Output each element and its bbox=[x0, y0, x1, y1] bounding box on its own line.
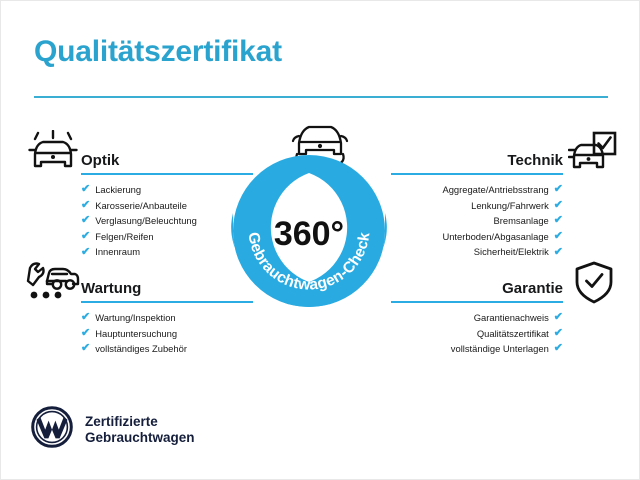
vw-logo-text: Zertifizierte Gebrauchtwagen bbox=[85, 414, 195, 446]
title-divider bbox=[34, 96, 608, 98]
car-wrench-icon bbox=[25, 259, 81, 310]
list-item-label: Sicherheit/Elektrik bbox=[474, 244, 549, 260]
check-icon: ✔ bbox=[554, 312, 563, 323]
section-header: Technik bbox=[391, 141, 563, 175]
section-divider bbox=[81, 301, 253, 303]
check-icon: ✔ bbox=[81, 328, 90, 339]
section-divider bbox=[81, 173, 253, 175]
section-title-garantie: Garantie bbox=[502, 280, 563, 297]
check-icon: ✔ bbox=[81, 312, 90, 323]
section-divider bbox=[391, 301, 563, 303]
list-item: ✔vollständiges Zubehör bbox=[81, 341, 253, 357]
checklist-wartung: ✔Wartung/Inspektion ✔Hauptuntersuchung ✔… bbox=[81, 310, 253, 357]
badge-center-label: 360° bbox=[274, 215, 344, 253]
section-title-optik: Optik bbox=[81, 152, 119, 169]
list-item-label: Verglasung/Beleuchtung bbox=[95, 213, 197, 229]
list-item: Sicherheit/Elektrik✔ bbox=[391, 244, 563, 260]
list-item-label: Karosserie/Anbauteile bbox=[95, 198, 187, 214]
car-shine-icon bbox=[27, 130, 79, 181]
list-item: ✔Wartung/Inspektion bbox=[81, 310, 253, 326]
list-item: vollständige Unterlagen✔ bbox=[391, 341, 563, 357]
check-icon: ✔ bbox=[81, 215, 90, 226]
list-item-label: Hauptuntersuchung bbox=[95, 326, 177, 342]
car-checkbox-icon bbox=[568, 130, 618, 181]
list-item-label: Innenraum bbox=[95, 244, 140, 260]
page-title: Qualitätszertifikat bbox=[34, 35, 282, 69]
vw-logo-icon bbox=[31, 406, 73, 453]
list-item: ✔Felgen/Reifen bbox=[81, 229, 253, 245]
check-icon: ✔ bbox=[554, 215, 563, 226]
list-item-label: Felgen/Reifen bbox=[95, 229, 153, 245]
section-technik: Technik Aggregate/Antriebsstrang✔ Lenkun… bbox=[391, 141, 563, 260]
list-item-label: vollständiges Zubehör bbox=[95, 341, 187, 357]
section-header: Optik bbox=[81, 141, 253, 175]
list-item: ✔Lackierung bbox=[81, 182, 253, 198]
section-header: Garantie bbox=[391, 269, 563, 303]
check-icon: ✔ bbox=[554, 231, 563, 242]
check-icon: ✔ bbox=[81, 247, 90, 258]
section-title-wartung: Wartung bbox=[81, 280, 141, 297]
list-item: Lenkung/Fahrwerk✔ bbox=[391, 198, 563, 214]
list-item: Unterboden/Abgasanlage✔ bbox=[391, 229, 563, 245]
list-item-label: Unterboden/Abgasanlage bbox=[442, 229, 548, 245]
check-icon: ✔ bbox=[81, 231, 90, 242]
check-icon: ✔ bbox=[554, 200, 563, 211]
section-header: Wartung bbox=[81, 269, 253, 303]
section-garantie: Garantie Garantienachweis✔ Qualitätszert… bbox=[391, 269, 563, 357]
shield-check-icon bbox=[573, 260, 615, 311]
list-item: ✔Hauptuntersuchung bbox=[81, 326, 253, 342]
check-icon: ✔ bbox=[81, 184, 90, 195]
list-item: ✔Verglasung/Beleuchtung bbox=[81, 213, 253, 229]
checklist-garantie: Garantienachweis✔ Qualitätszertifikat✔ v… bbox=[391, 310, 563, 357]
check-icon: ✔ bbox=[554, 247, 563, 258]
checklist-optik: ✔Lackierung ✔Karosserie/Anbauteile ✔Verg… bbox=[81, 182, 253, 260]
list-item-label: vollständige Unterlagen bbox=[451, 341, 549, 357]
section-optik: Optik ✔Lackierung ✔Karosserie/Anbauteile… bbox=[81, 141, 253, 260]
list-item: Garantienachweis✔ bbox=[391, 310, 563, 326]
checklist-technik: Aggregate/Antriebsstrang✔ Lenkung/Fahrwe… bbox=[391, 182, 563, 260]
list-item-label: Lackierung bbox=[95, 182, 141, 198]
list-item-label: Lenkung/Fahrwerk bbox=[471, 198, 549, 214]
vw-footer-logo: Zertifizierte Gebrauchtwagen bbox=[31, 406, 195, 453]
list-item-label: Garantienachweis bbox=[474, 310, 549, 326]
check-icon: ✔ bbox=[81, 200, 90, 211]
check-icon: ✔ bbox=[554, 184, 563, 195]
check-icon: ✔ bbox=[554, 343, 563, 354]
check-icon: ✔ bbox=[81, 343, 90, 354]
certificate-page: Qualitätszertifikat bbox=[0, 0, 640, 480]
check-icon: ✔ bbox=[554, 328, 563, 339]
list-item: Qualitätszertifikat✔ bbox=[391, 326, 563, 342]
list-item-label: Qualitätszertifikat bbox=[477, 326, 549, 342]
list-item: Bremsanlage✔ bbox=[391, 213, 563, 229]
section-wartung: Wartung ✔Wartung/Inspektion ✔Hauptunters… bbox=[81, 269, 253, 357]
list-item: ✔Innenraum bbox=[81, 244, 253, 260]
vw-logo-line1: Zertifizierte bbox=[85, 414, 195, 430]
list-item-label: Wartung/Inspektion bbox=[95, 310, 175, 326]
vw-logo-line2: Gebrauchtwagen bbox=[85, 430, 195, 446]
section-title-technik: Technik bbox=[507, 152, 563, 169]
list-item-label: Aggregate/Antriebsstrang bbox=[442, 182, 548, 198]
list-item-label: Bremsanlage bbox=[494, 213, 549, 229]
section-divider bbox=[391, 173, 563, 175]
list-item: Aggregate/Antriebsstrang✔ bbox=[391, 182, 563, 198]
badge-360-gebrauchtwagen-check: Gebrauchtwagen-Check 360° bbox=[229, 151, 389, 311]
list-item: ✔Karosserie/Anbauteile bbox=[81, 198, 253, 214]
